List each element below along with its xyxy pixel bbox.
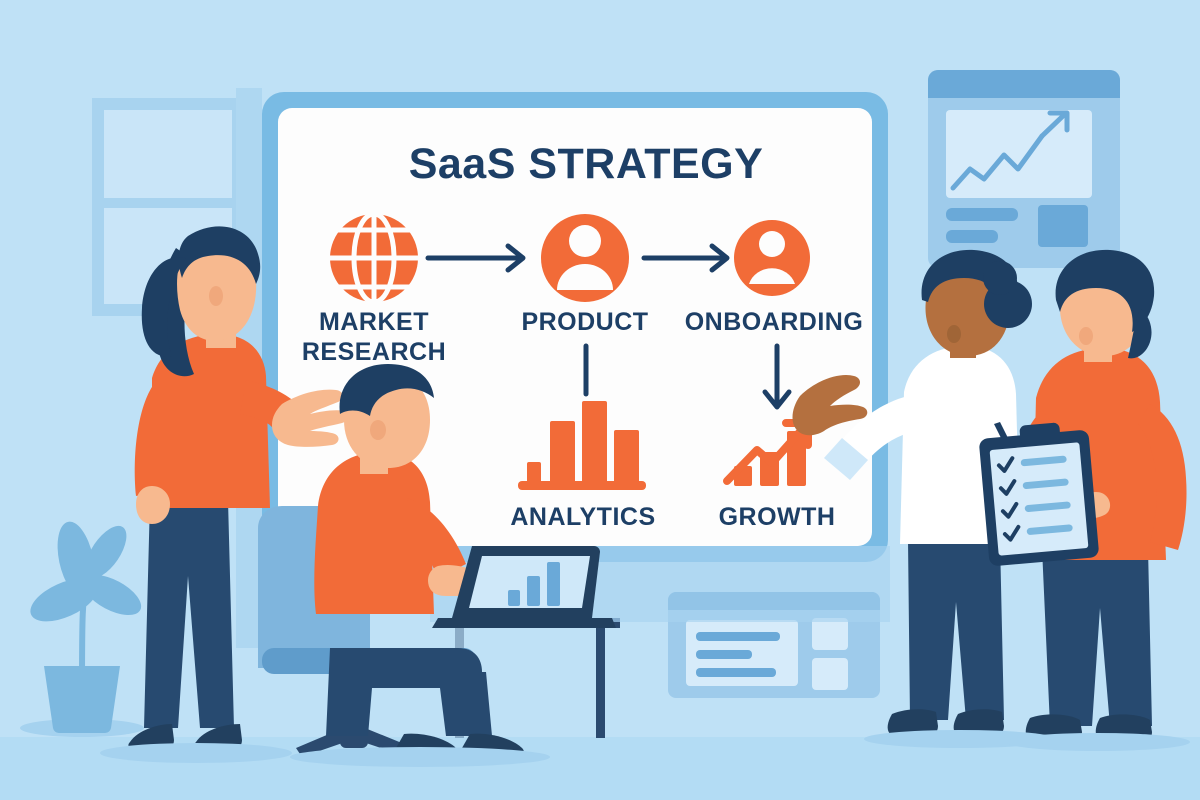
cw-hair-bun (983, 261, 1017, 295)
illustration-canvas: SaaS STRATEGY MARKET RESEARCH PRODUCT (0, 0, 1200, 800)
analyst-ear (370, 420, 386, 440)
presenter-hand-back (136, 486, 170, 524)
cm-ear (1079, 327, 1093, 345)
board-title: SaaS STRATEGY (409, 140, 764, 188)
content-tile (812, 658, 848, 690)
dashboard-text-bar (946, 230, 998, 243)
dashboard-panel (928, 70, 1120, 268)
node-label-line: ONBOARDING (685, 308, 864, 336)
node-label-line: PRODUCT (521, 308, 648, 336)
clipboard (979, 422, 1100, 567)
dashboard-tile (1038, 205, 1088, 247)
globe-icon (330, 214, 418, 302)
plant-pot (44, 666, 120, 733)
content-text-line (696, 650, 752, 659)
node-label-line: GROWTH (719, 503, 836, 531)
node-label-line: ANALYTICS (510, 503, 655, 531)
laptop-base (432, 618, 616, 628)
content-tile (812, 618, 848, 650)
presenter-ear (209, 286, 223, 306)
dashboard-text-bar (946, 208, 1018, 221)
content-text-line (696, 668, 776, 677)
node-label-line: RESEARCH (302, 338, 446, 366)
cw-ear (947, 325, 961, 343)
user-icon (541, 214, 629, 302)
node-label-line: MARKET (319, 308, 429, 336)
clipboard-clip (1019, 422, 1061, 445)
content-text-line (696, 632, 780, 641)
user-icon (734, 220, 810, 296)
dashboard-chart-area (946, 110, 1092, 198)
analyst-leg-front (452, 672, 492, 736)
